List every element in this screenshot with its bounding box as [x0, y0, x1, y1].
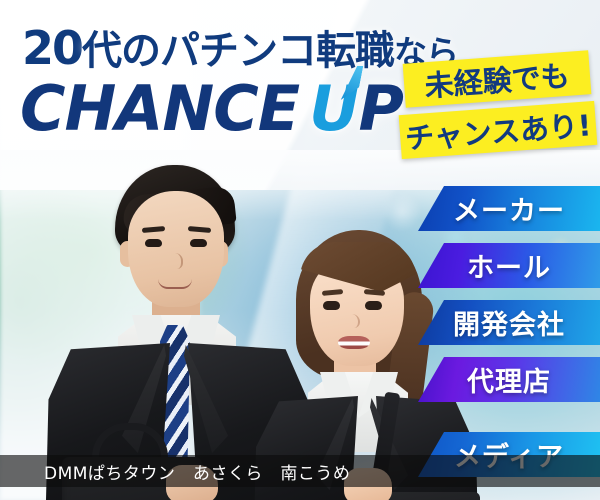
category-button-developer[interactable]: 開発会社 [418, 300, 600, 345]
category-button-agency[interactable]: 代理店 [418, 357, 600, 402]
category-button-hall[interactable]: ホール [418, 243, 600, 288]
category-button-maker[interactable]: メーカー [418, 186, 600, 231]
photo-credit-caption: DMMぱちタウン あさくら 南こうめ [0, 455, 600, 487]
advertisement-banner[interactable]: 20代のパチンコ転職なら CHANCEUP 未経験でも チャンスあり! メーカー… [0, 0, 600, 500]
